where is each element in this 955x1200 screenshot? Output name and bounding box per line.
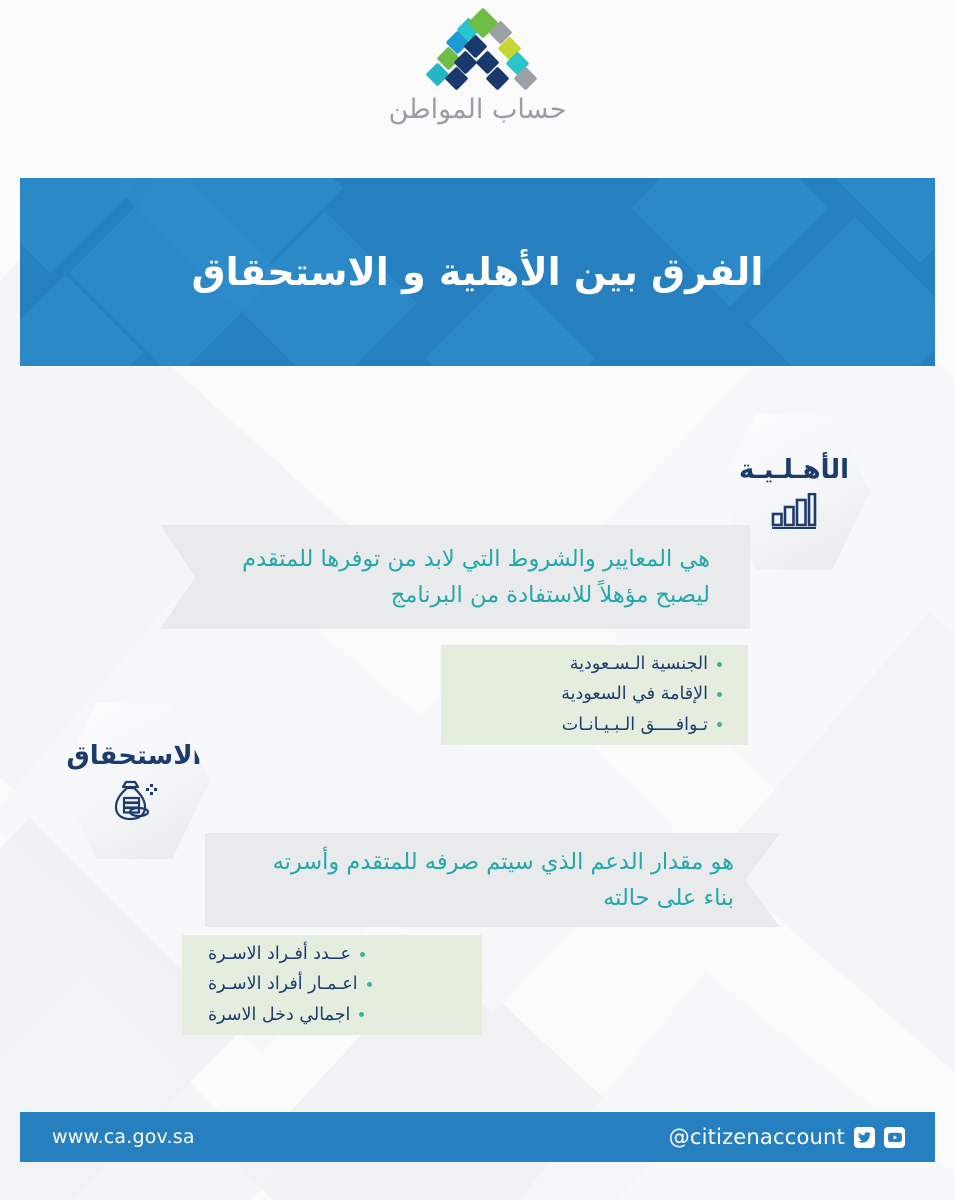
list-item-label: اجمالي دخل الاسرة: [208, 1000, 350, 1030]
social-handle: @citizenaccount: [669, 1125, 845, 1149]
list-item: اعـمـار أفراد الاسـرة: [208, 969, 372, 999]
list-item-label: الجنسية الـسـعودية: [570, 649, 708, 679]
list-item: اجمالي دخل الاسرة: [208, 1000, 364, 1030]
social-group: @citizenaccount: [669, 1125, 905, 1149]
list-item-label: عــدد أفـراد الاسـرة: [208, 939, 351, 969]
footer-bar: www.ca.gov.sa @citizenaccount: [20, 1112, 935, 1162]
list-item: عــدد أفـراد الاسـرة: [208, 939, 365, 969]
brand-wordmark: حساب المواطن: [389, 94, 567, 125]
description-eligibility: هي المعايير والشروط التي لابد من توفرها …: [160, 525, 750, 629]
bullet-dot-icon: [360, 952, 365, 957]
bullet-dot-icon: [359, 1012, 364, 1017]
bullet-list-eligibility: الجنسية الـسـعودية الإقامة في السعودية ت…: [441, 645, 748, 745]
list-item-label: الإقامة في السعودية: [561, 679, 708, 709]
bullet-dot-icon: [717, 692, 722, 697]
page-title: الفرق بين الأهلية و الاستحقاق: [20, 178, 935, 366]
bullet-dot-icon: [367, 982, 372, 987]
bullet-list-entitlement: عــدد أفـراد الاسـرة اعـمـار أفراد الاسـ…: [182, 935, 482, 1035]
description-entitlement: هو مقدار الدعم الذي سيتم صرفه للمتقدم وأ…: [205, 833, 780, 927]
bullet-dot-icon: [717, 722, 722, 727]
infographic-page: حساب المواطن الفرق بين الأهلية و الاستحق…: [0, 0, 955, 1200]
badge-entitlement-label: الاستحقاق: [67, 741, 202, 771]
list-item-label: اعـمـار أفراد الاسـرة: [208, 969, 358, 999]
bullet-dot-icon: [717, 662, 722, 667]
bar-chart-icon: [771, 493, 817, 529]
citizen-account-logo-icon: [423, 14, 533, 86]
badge-eligibility-label: الأهـلـيـة: [739, 455, 849, 485]
list-item: الجنسية الـسـعودية: [570, 649, 722, 679]
money-bag-icon: [110, 779, 158, 821]
list-item: الإقامة في السعودية: [561, 679, 722, 709]
website-url[interactable]: www.ca.gov.sa: [52, 1126, 195, 1148]
twitter-icon[interactable]: [854, 1127, 875, 1148]
badge-entitlement: الاستحقاق: [58, 703, 210, 859]
youtube-icon[interactable]: [884, 1127, 905, 1148]
list-item-label: تـوافــــق الـبـيـانـات: [562, 710, 708, 740]
list-item: تـوافــــق الـبـيـانـات: [562, 710, 722, 740]
title-banner: الفرق بين الأهلية و الاستحقاق: [20, 178, 935, 366]
brand-logo: حساب المواطن: [0, 14, 955, 125]
